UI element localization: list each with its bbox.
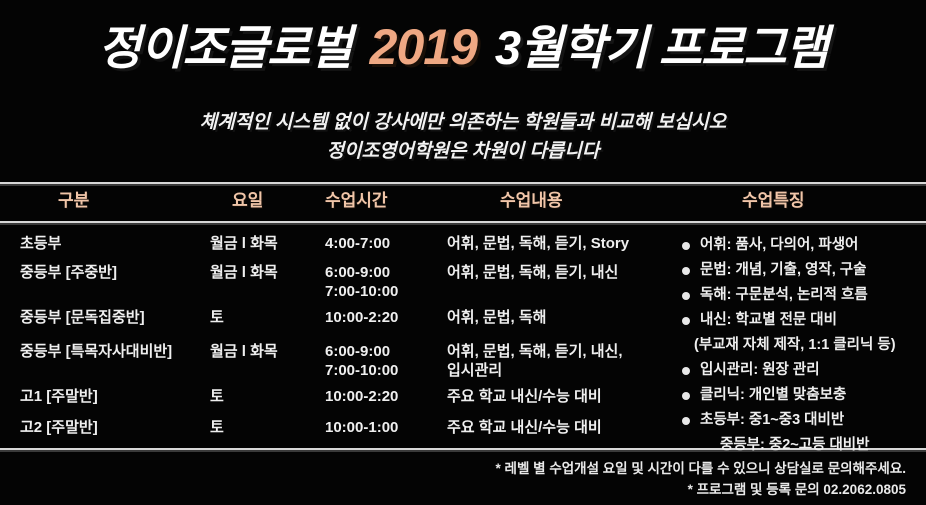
column-header-time: 수업시간 <box>325 191 445 210</box>
feature-item: 내신: 학교별 전문 대비 <box>680 308 926 333</box>
row-yoil: 월금 l 화목 <box>210 263 320 282</box>
row-yoil: 토 <box>210 308 320 327</box>
row-time: 10:00-2:20 <box>325 308 445 327</box>
row-gubun: 중등부 [문독집중반] <box>20 308 210 327</box>
feature-item: 입시관리: 원장 관리 <box>680 358 926 383</box>
row-gubun: 고2 [주말반] <box>20 418 210 437</box>
table-top-divider <box>0 182 926 184</box>
table-header-row: 구분 요일 수업시간 수업내용 수업특징 <box>0 191 926 217</box>
row-content: 어휘, 문법, 독해, 듣기, 내신, 입시관리 <box>447 342 682 380</box>
title-brand: 정이조글로벌 <box>98 21 351 74</box>
feature-item: 어휘: 품사, 다의어, 파생어 <box>680 233 926 258</box>
row-yoil: 월금 l 화목 <box>210 234 320 253</box>
row-content: 어휘, 문법, 독해, 듣기, 내신 <box>447 263 682 282</box>
subtitle-line-1: 체계적인 시스템 없이 강사에만 의존하는 학원들과 비교해 보십시오 <box>0 108 926 137</box>
poster-title: 정이조글로벌20193월학기 프로그램 <box>0 18 926 77</box>
row-gubun: 고1 [주말반] <box>20 387 210 406</box>
table-header-divider <box>0 221 926 223</box>
row-time: 10:00-1:00 <box>325 418 445 437</box>
row-yoil: 토 <box>210 387 320 406</box>
feature-item-note: (부교재 자체 제작, 1:1 클리닉 등) <box>680 333 926 358</box>
row-content: 어휘, 문법, 독해, 듣기, Story <box>447 234 682 253</box>
feature-item-sub: 중등부: 중2~고등 대비반 <box>680 433 926 458</box>
footer-notes: * 레벨 별 수업개설 요일 및 시간이 다를 수 있으니 상담실로 문의해주세… <box>0 458 906 500</box>
row-content: 어휘, 문법, 독해 <box>447 308 682 327</box>
row-yoil: 월금 l 화목 <box>210 342 320 361</box>
row-time: 10:00-2:20 <box>325 387 445 406</box>
feature-item: 초등부: 중1~중3 대비반 <box>680 408 926 433</box>
program-poster: 정이조글로벌20193월학기 프로그램 체계적인 시스템 없이 강사에만 의존하… <box>0 0 926 505</box>
poster-subtitle: 체계적인 시스템 없이 강사에만 의존하는 학원들과 비교해 보십시오 정이조영… <box>0 108 926 166</box>
feature-item: 문법: 개념, 기출, 영작, 구술 <box>680 258 926 283</box>
row-time: 6:00-9:00 7:00-10:00 <box>325 263 445 301</box>
feature-item: 클리닉: 개인별 맞춤보충 <box>680 383 926 408</box>
row-time: 6:00-9:00 7:00-10:00 <box>325 342 445 380</box>
column-header-gubun: 구분 <box>58 191 248 210</box>
feature-list: 어휘: 품사, 다의어, 파생어 문법: 개념, 기출, 영작, 구술 독해: … <box>680 233 926 458</box>
row-gubun: 중등부 [주중반] <box>20 263 210 282</box>
subtitle-line-2: 정이조영어학원은 차원이 다릅니다 <box>0 137 926 166</box>
column-header-feature: 수업특징 <box>742 191 922 210</box>
feature-item: 독해: 구문분석, 논리적 흐름 <box>680 283 926 308</box>
title-term: 3월학기 프로그램 <box>495 21 828 74</box>
row-content: 주요 학교 내신/수능 대비 <box>447 387 682 406</box>
footer-note-schedule: * 레벨 별 수업개설 요일 및 시간이 다를 수 있으니 상담실로 문의해주세… <box>0 458 906 479</box>
row-yoil: 토 <box>210 418 320 437</box>
row-gubun: 초등부 <box>20 234 210 253</box>
row-gubun: 중등부 [특목자사대비반] <box>20 342 210 361</box>
row-time: 4:00-7:00 <box>325 234 445 253</box>
column-header-content: 수업내용 <box>500 191 735 210</box>
title-year: 2019 <box>366 19 481 75</box>
footer-note-contact: * 프로그램 및 등록 문의 02.2062.0805 <box>0 479 906 500</box>
row-content: 주요 학교 내신/수능 대비 <box>447 418 682 437</box>
